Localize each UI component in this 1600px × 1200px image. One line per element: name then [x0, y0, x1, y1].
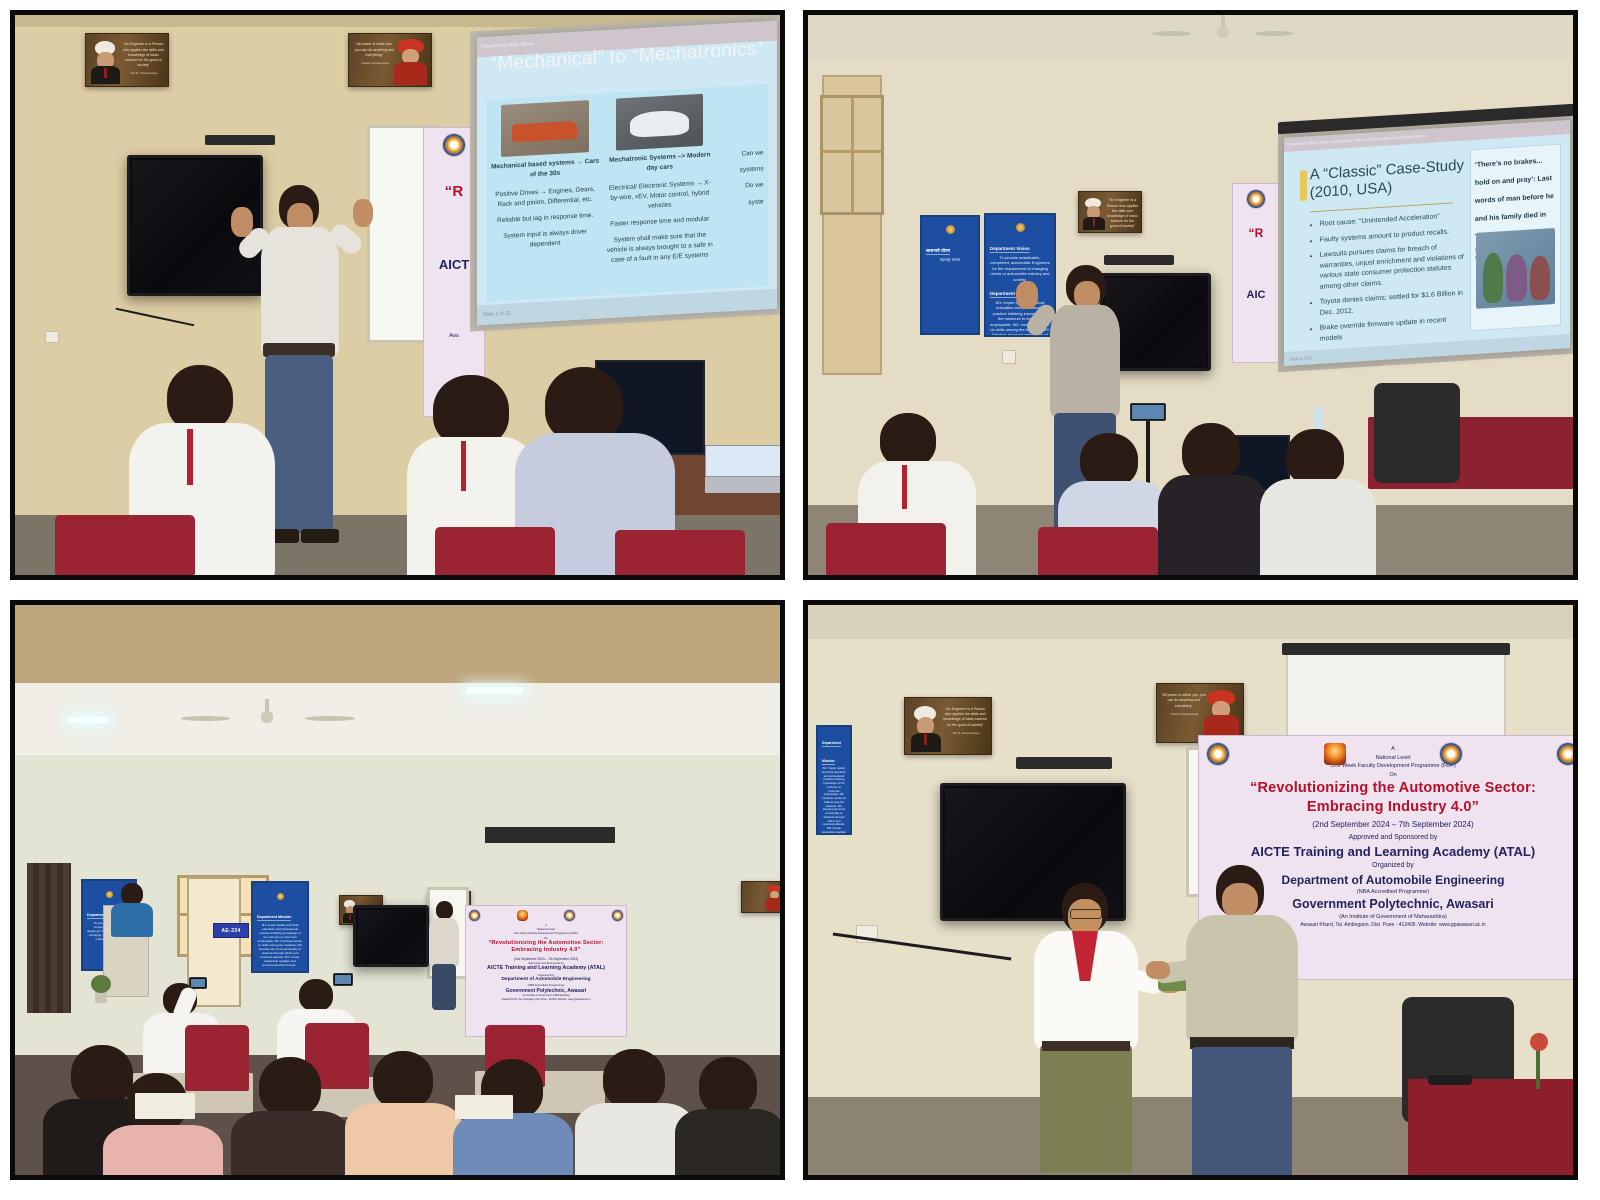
phone-screen: [335, 975, 351, 984]
eyeglasses-on-table: [1428, 1075, 1472, 1085]
face: [1222, 883, 1258, 919]
head: [373, 1051, 433, 1109]
soundbar: [205, 135, 275, 145]
slide-title: A “Classic” Case-Study (2010, USA): [1310, 156, 1464, 203]
belt: [1042, 1041, 1130, 1051]
shirt: [453, 1113, 573, 1175]
banner-title-line2: Embracing Industry 4.0”: [1205, 798, 1573, 817]
board-heading: Department Mission: [257, 915, 291, 921]
poster-attribution: - Swami Vivekananda: [353, 61, 396, 65]
robe-shape: [394, 62, 427, 85]
banner-address-partial: Awa: [426, 333, 482, 341]
poster-quote: “An Engineer is a Person who applies the…: [1106, 198, 1138, 229]
bullet-item: Lawsuits pursues claims for breach of wa…: [1320, 242, 1469, 293]
emblem-icon: [1016, 223, 1025, 232]
shirt: [111, 903, 153, 937]
board-body: M1: Impart quality technical education a…: [822, 767, 846, 835]
panel-bottom-left: AE-334 Department Vision To provide sust…: [10, 600, 785, 1180]
board-heading-vision: Department Vision: [990, 246, 1030, 253]
audience-member: [345, 1051, 463, 1175]
projector-screen-roller: [1282, 643, 1510, 655]
room-number-sign: AE-334: [213, 923, 249, 938]
bullet-text: System shall make sure that the vehicle …: [605, 230, 714, 266]
visvesvaraya-figure: [908, 706, 942, 751]
bullet-text: Do we: [720, 181, 764, 194]
bullet-text: Can we: [720, 149, 764, 162]
olive-trousers: [1040, 1045, 1132, 1173]
aicte-logo: [469, 910, 480, 921]
chair: [55, 515, 195, 575]
visvesvaraya-figure: [1081, 198, 1106, 230]
presenter-head: [436, 901, 453, 919]
vivekananda-figure: [1203, 690, 1239, 740]
jeans: [1192, 1047, 1292, 1175]
institute-emblem-logo: [1557, 743, 1573, 765]
news-photo: [1476, 228, 1555, 309]
window-curtain: [27, 863, 71, 1013]
shirt: [231, 1111, 351, 1175]
slide-column-mechatronic: Mechatronic Systems –> Modern day cars E…: [605, 93, 714, 289]
gear-emblem-logo: [564, 910, 575, 921]
poster-quote: “An Engineer is a Person who applies the…: [122, 42, 165, 75]
stem: [1536, 1047, 1540, 1089]
poster-attribution: - Sir M. Visvesvaraya: [122, 71, 165, 75]
swami-vivekananda-poster: [741, 881, 780, 913]
atal-logo: [517, 910, 528, 921]
banner-sponsor-partial: AIC: [1235, 288, 1277, 303]
panel-top-right: शासनाचे धोरण महाराष्ट्र शासन Department …: [803, 10, 1578, 580]
column-caption: Mechanical based systems → Cars of the 3…: [491, 157, 600, 183]
vivekananda-figure: [393, 39, 427, 84]
ceiling-fan: [227, 699, 307, 735]
wall-mounted-tv[interactable]: [353, 905, 429, 967]
bullet-text: Positive Drives → Engines, Gears, Rack a…: [491, 184, 600, 210]
person-silhouette: [1506, 254, 1526, 302]
banner-institute: Government Polytechnic, Awasari: [469, 988, 623, 995]
slide-bullet-list: Root cause: “Unintended Acceleration” Fa…: [1310, 211, 1469, 351]
eyeglasses-icon: [1070, 909, 1102, 919]
vintage-car-image: [501, 100, 588, 157]
board-body: M1: Impart quality technical education a…: [257, 923, 303, 968]
ceiling: [808, 605, 1573, 639]
bullet-text: Electrical/ Electronic Systems → X-by-wi…: [605, 178, 714, 214]
projector-screen: [1286, 653, 1506, 745]
hand: [1146, 961, 1170, 979]
projector-screen-roller: [485, 827, 615, 843]
poster-quote: “All power is within you, you can do any…: [353, 42, 396, 65]
banner-title-partial: “R: [1235, 226, 1277, 242]
banner-dates: (2nd September 2024 – 7th September 2024…: [1205, 820, 1573, 829]
lanyard: [461, 441, 466, 491]
department-info-board: Department Mission M1: Impart quality te…: [251, 881, 309, 973]
slide-body: Mechanical based systems → Cars of the 3…: [486, 84, 768, 301]
aicte-logo: [1207, 743, 1229, 765]
beige-shirt: [1186, 915, 1298, 1043]
poster-quote: “All power is within you, you can do any…: [1161, 693, 1206, 716]
vivekananda-figure: [766, 885, 780, 911]
presenter-shirt: [1050, 305, 1120, 417]
banner-title-line1: “Revolutionizing the Automotive Sector:: [469, 940, 623, 947]
head: [603, 1049, 665, 1109]
resource-person-figure: [1180, 865, 1306, 1175]
bullet-item: Brake override firmware update in recent…: [1320, 315, 1469, 345]
fan-rod: [1221, 15, 1225, 27]
head: [121, 883, 143, 905]
banner-address: Awasari Khurd, Tal. Ambegaon, Dist. Pune…: [469, 998, 623, 1002]
shirt: [103, 1125, 223, 1175]
scene-memento-handover: Department Mission M1: Impart quality te…: [808, 605, 1573, 1175]
banner-sponsor: AICTE Training and Learning Academy (ATA…: [1205, 843, 1573, 861]
banner-logo-row: [466, 910, 626, 921]
suit-shape: [911, 733, 941, 752]
slide-accent-bar: [1300, 171, 1307, 201]
bullet-item: Toyota denies claims; settled for $1.6 B…: [1320, 289, 1469, 319]
laptop-screen: [705, 445, 780, 477]
bullet-text: Faster response time and modular: [605, 214, 714, 230]
foliage: [91, 975, 111, 993]
board-heading: Department Mission: [822, 741, 841, 765]
slide-column-questions: Can we systems Do we syste: [720, 91, 764, 283]
window: [820, 95, 884, 215]
modern-car-image: [616, 94, 703, 151]
notebook: [455, 1095, 513, 1119]
scene-wide-classroom: AE-334 Department Vision To provide sust…: [15, 605, 780, 1175]
presenter-hand-left: [231, 207, 253, 237]
audience-member: [103, 1073, 223, 1175]
presenter-jeans: [265, 355, 333, 533]
poster-attribution: - Sir M. Visvesvaraya: [943, 731, 988, 735]
shirt: [675, 1109, 780, 1175]
fdp-banner: A National Level One Week Faculty Develo…: [465, 905, 627, 1037]
bullet-text: System input is always driver dependent: [491, 227, 600, 253]
audience-head: [1182, 423, 1240, 481]
scene-lecture-room-1: “An Engineer is a Person who applies the…: [15, 15, 780, 575]
flower-head: [1530, 1033, 1548, 1051]
banner-title-line1: “Revolutionizing the Automotive Sector:: [1205, 779, 1573, 798]
slide-column-mechanical: Mechanical based systems → Cars of the 3…: [491, 100, 600, 296]
aicte-logo: [443, 134, 465, 156]
banner-on: On: [1205, 771, 1573, 780]
wall-socket: [1002, 350, 1016, 364]
decorative-flower: [1524, 1033, 1554, 1089]
sir-m-visvesvaraya-poster: “An Engineer is a Person who applies the…: [1078, 191, 1142, 233]
faculty-coordinator-figure: [1026, 883, 1146, 1175]
ceiling-fan: [1188, 15, 1258, 49]
head: [259, 1057, 321, 1117]
person-silhouette: [1483, 252, 1503, 303]
aicte-logo: [1247, 190, 1265, 208]
wall-socket: [45, 331, 59, 343]
stage-table: [1408, 1079, 1573, 1175]
audience-member: [675, 1057, 780, 1175]
suit-shape: [91, 66, 120, 83]
fan-rod: [265, 699, 270, 712]
photo-collage: “An Engineer is a Person who applies the…: [0, 0, 1600, 1200]
chair: [435, 527, 555, 575]
fdp-banner-strip: “R AIC: [1232, 183, 1280, 363]
bullet-text: syste: [720, 197, 764, 210]
lanyard: [902, 465, 907, 509]
department-info-board: Department Mission M1: Impart quality te…: [816, 725, 852, 835]
lanyard: [187, 429, 193, 485]
tube-light: [67, 717, 109, 723]
head: [299, 979, 333, 1011]
gear-emblem-logo: [1440, 743, 1462, 765]
robe-shape: [766, 898, 780, 911]
panel-bottom-right: Department Mission M1: Impart quality te…: [803, 600, 1578, 1180]
poster-quote: “An Engineer is a Person who applies the…: [943, 707, 988, 735]
bullet-text: Reliable but lag in response time.: [491, 211, 600, 227]
soundbar: [1016, 757, 1112, 769]
fan-hub: [261, 711, 274, 723]
audience-member: [1158, 423, 1268, 575]
presenter-figure: [427, 901, 461, 1009]
person-silhouette: [1530, 255, 1550, 300]
board-heading: शासनाचे धोरण: [926, 248, 950, 255]
recording-phone[interactable]: [1130, 403, 1166, 421]
panel-top-left: “An Engineer is a Person who applies the…: [10, 10, 785, 580]
emblem-icon: [277, 893, 284, 900]
fan-blade: [1255, 31, 1294, 36]
swami-vivekananda-poster: “All power is within you, you can do any…: [1156, 683, 1244, 743]
office-chair[interactable]: [1374, 383, 1460, 483]
smartphone[interactable]: [189, 977, 207, 989]
audience-shirt: [1158, 475, 1268, 575]
department-vision-board-marathi: शासनाचे धोरण महाराष्ट्र शासन: [920, 215, 980, 335]
audience-member: [1260, 429, 1376, 575]
emblem-icon: [946, 225, 955, 234]
presentation-slide-case-study: PowerPoint Slide Show - Automotive Safet…: [1284, 120, 1570, 366]
slide-divider: [1310, 203, 1453, 213]
banner-approved-label: Approved and Sponsored by: [1205, 832, 1573, 843]
sir-m-visvesvaraya-poster: “An Engineer is a Person who applies the…: [904, 697, 992, 755]
audience-head: [1286, 429, 1344, 485]
smartphone[interactable]: [333, 973, 353, 986]
chair: [1038, 527, 1158, 575]
tube-light: [467, 687, 523, 694]
head: [699, 1057, 757, 1115]
atal-logo: [1324, 743, 1346, 765]
column-caption: Mechatronic Systems –> Modern day cars: [605, 150, 714, 176]
laptop[interactable]: [705, 445, 780, 493]
swami-vivekananda-poster: “All power is within you, you can do any…: [348, 33, 432, 87]
fan-blade: [1152, 31, 1191, 36]
phone-screen: [1132, 405, 1164, 419]
audience-head: [167, 365, 233, 431]
presentation-slide-mechatronics: PowerPoint Slide Show “Mechanical” to “M…: [477, 21, 777, 326]
presenter-hand: [1016, 281, 1038, 309]
banner-sponsor: AICTE Training and Learning Academy (ATA…: [469, 965, 623, 972]
shirt: [345, 1103, 463, 1175]
audience-member: [231, 1057, 351, 1175]
presenter-hand-right: [353, 199, 373, 227]
presenter-shirt: [261, 227, 339, 357]
presenter-shoe-right: [301, 529, 339, 543]
audience-head: [1080, 433, 1138, 487]
potted-plant: [89, 975, 113, 1003]
audience-head: [545, 367, 623, 443]
suit-shape: [1083, 217, 1105, 230]
presenter-shirt: [429, 918, 459, 966]
notebook: [135, 1093, 195, 1119]
audience-head: [880, 413, 936, 467]
presenter-trousers: [432, 964, 456, 1010]
scene-lecture-room-2: शासनाचे धोरण महाराष्ट्र शासन Department …: [808, 15, 1573, 575]
poster-attribution: - Swami Vivekananda: [1161, 712, 1206, 716]
chair: [615, 530, 745, 575]
banner-title-line2: Embracing Industry 4.0”: [469, 947, 623, 954]
news-clipping: ‘There’s no brakes... hold on and pray’:…: [1470, 143, 1562, 331]
chair: [826, 523, 946, 575]
board-body: महाराष्ट्र शासन: [926, 257, 974, 262]
sir-m-visvesvaraya-poster: “An Engineer is a Person who applies the…: [85, 33, 169, 87]
institute-emblem-logo: [612, 910, 623, 921]
bullet-text: systems: [720, 165, 764, 178]
phone-screen: [191, 979, 205, 987]
ceiling-beam: [15, 605, 780, 683]
soundbar: [1104, 255, 1174, 265]
person-at-podium: [111, 883, 153, 933]
visvesvaraya-figure: [89, 41, 122, 83]
fan-hub: [1217, 27, 1228, 39]
banner-logo-row: [1199, 743, 1573, 765]
audience-shirt: [1260, 479, 1376, 575]
